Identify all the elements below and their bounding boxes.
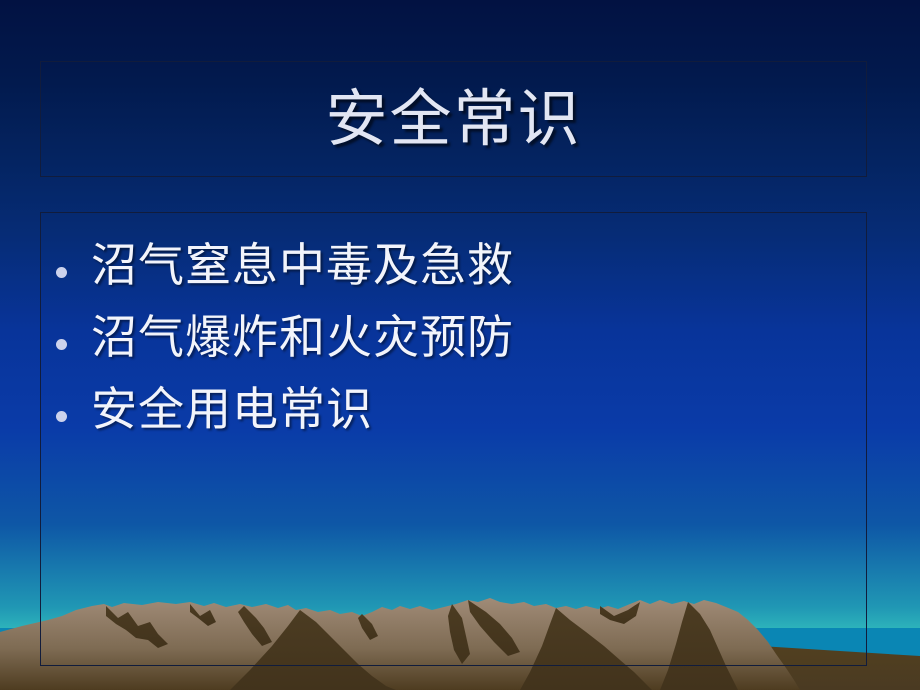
bullet-dot-icon <box>56 339 67 350</box>
content-box: 沼气窒息中毒及急救 沼气爆炸和火灾预防 安全用电常识 <box>40 212 867 666</box>
list-item: 沼气爆炸和火灾预防 <box>41 301 866 373</box>
page-title: 安全常识 <box>325 85 581 153</box>
bullet-list: 沼气窒息中毒及急救 沼气爆炸和火灾预防 安全用电常识 <box>41 229 866 445</box>
title-box: 安全常识 <box>40 61 867 177</box>
list-item-label: 沼气窒息中毒及急救 <box>91 238 514 292</box>
list-item-label: 沼气爆炸和火灾预防 <box>91 310 514 364</box>
bullet-dot-icon <box>56 267 67 278</box>
list-item: 安全用电常识 <box>41 373 866 445</box>
presentation-slide: 安全常识 沼气窒息中毒及急救 沼气爆炸和火灾预防 安全用电常识 <box>0 0 920 690</box>
bullet-dot-icon <box>56 411 67 422</box>
list-item-label: 安全用电常识 <box>91 382 373 436</box>
list-item: 沼气窒息中毒及急救 <box>41 229 866 301</box>
